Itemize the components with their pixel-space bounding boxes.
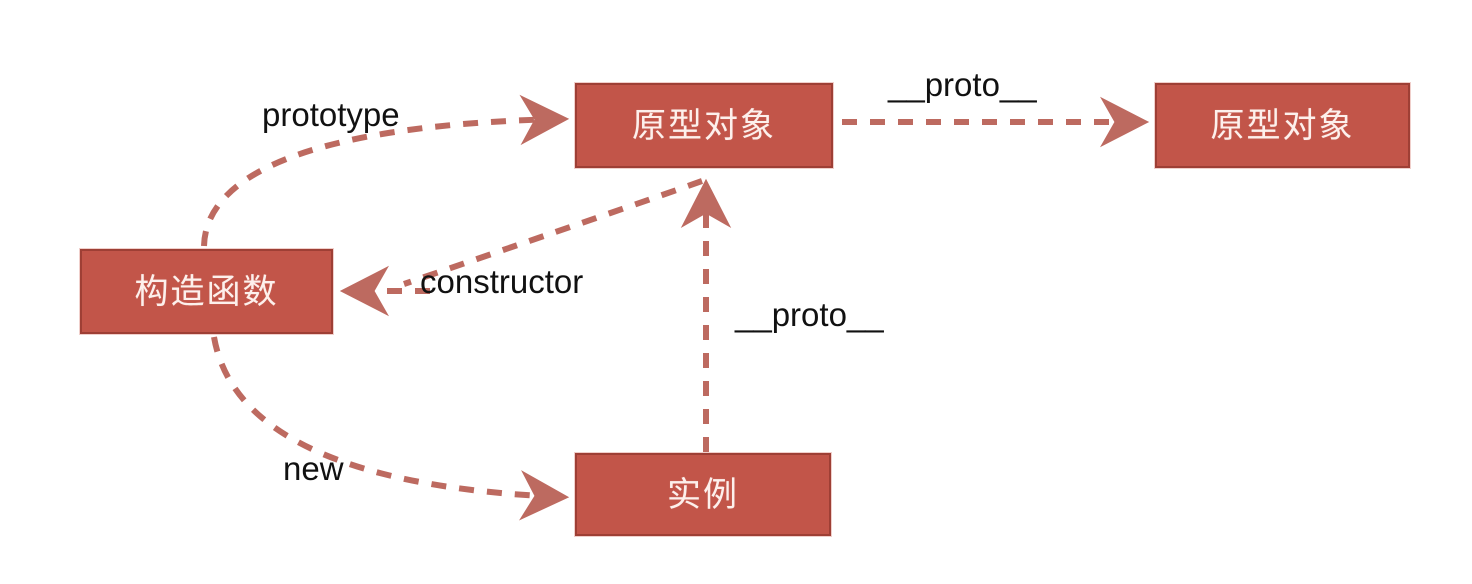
node-prototype-object-parent-label: 原型对象 (1211, 109, 1355, 143)
edge-new-path (214, 337, 562, 497)
edge-label-proto-top: __proto__ (888, 68, 1037, 101)
node-prototype-object-parent[interactable]: 原型对象 (1155, 83, 1410, 168)
edge-label-new: new (283, 452, 344, 485)
node-constructor-function-label: 构造函数 (135, 275, 279, 309)
node-instance-label: 实例 (667, 478, 739, 512)
node-instance[interactable]: 实例 (575, 453, 831, 536)
node-constructor-function[interactable]: 构造函数 (80, 249, 333, 334)
node-prototype-object-label: 原型对象 (632, 109, 776, 143)
edge-label-prototype: prototype (262, 98, 400, 131)
edge-prototype-path (204, 119, 562, 246)
prototype-chain-diagram: 构造函数 原型对象 原型对象 实例 prototype __proto__ co… (0, 0, 1472, 584)
node-prototype-object[interactable]: 原型对象 (575, 83, 833, 168)
edge-label-constructor: constructor (420, 265, 583, 298)
edge-label-proto-middle: __proto__ (735, 298, 884, 331)
